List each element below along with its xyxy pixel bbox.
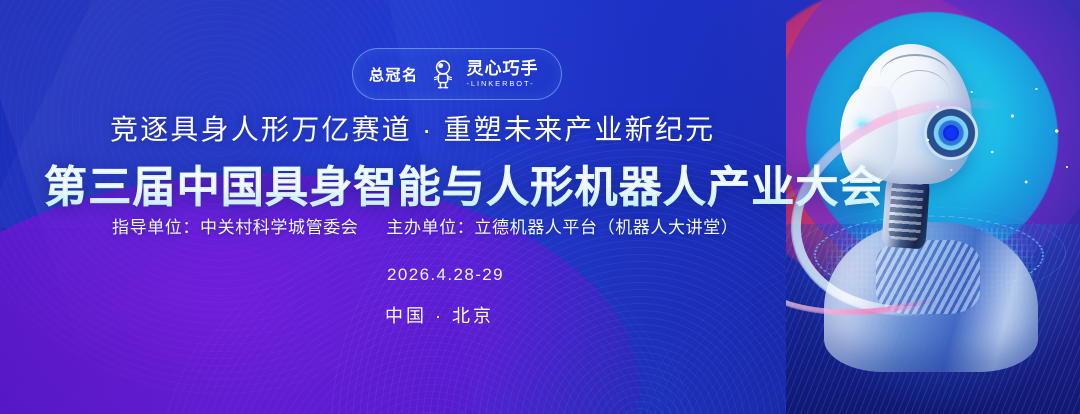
sponsor-brand: 灵心巧手 -LINKERBOT- <box>467 60 539 89</box>
conference-banner: 总冠名 灵心巧手 -LINKERBOT- 竞逐具身人形万亿赛道 · 重塑未来产业… <box>0 0 1080 414</box>
banner-subtitle: 竞逐具身人形万亿赛道 · 重塑未来产业新纪元 <box>110 108 715 148</box>
sponsor-brand-cn: 灵心巧手 <box>467 60 539 78</box>
guiding-organization: 指导单位：中关村科学城管委会 <box>112 213 358 238</box>
astronaut-icon <box>430 59 456 89</box>
event-date: 2026.4.28-29 <box>387 265 504 285</box>
sponsor-badge: 总冠名 灵心巧手 -LINKERBOT- <box>352 48 562 100</box>
particle-sparkles <box>914 74 1080 224</box>
banner-title: 第三届中国具身智能与人形机器人产业大会 <box>44 153 884 215</box>
event-location: 中国 · 北京 <box>385 302 494 328</box>
host-organization: 主办单位：立德机器人平台（机器人大讲堂） <box>386 213 738 238</box>
sponsor-brand-en: -LINKERBOT- <box>467 79 539 89</box>
organizer-line: 指导单位：中关村科学城管委会 主办单位：立德机器人平台（机器人大讲堂） <box>112 213 738 238</box>
sponsor-label: 总冠名 <box>369 64 419 85</box>
